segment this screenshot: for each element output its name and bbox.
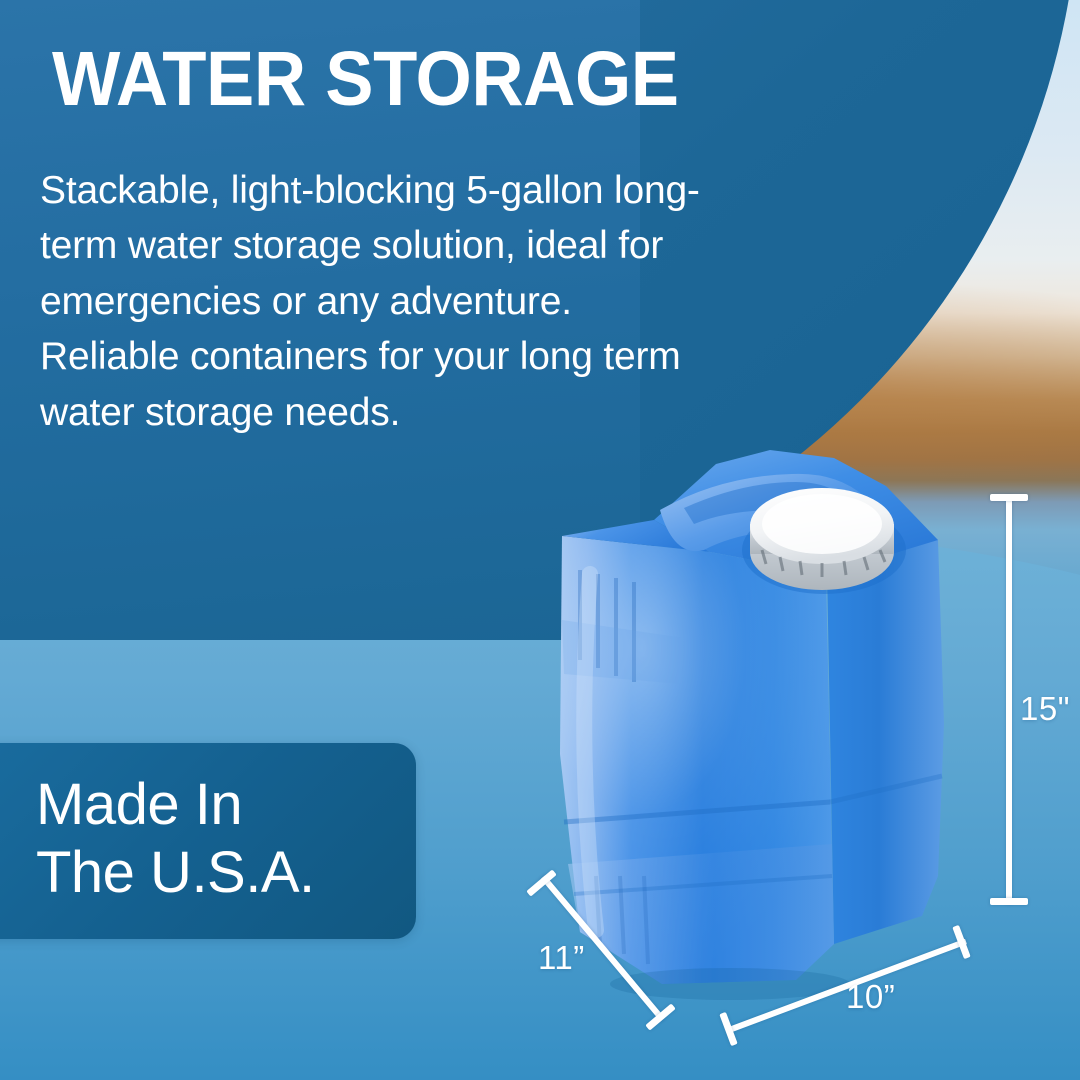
depth-dimension-label: 11”: [538, 939, 585, 977]
description-line: emergencies or any adventure.: [40, 274, 820, 329]
made-in-usa-label: Made In The U.S.A.: [36, 771, 315, 907]
product-description: Stackable, light-blocking 5-gallon long-…: [40, 163, 820, 440]
height-dimension-label: 15": [1020, 690, 1070, 728]
white-screw-cap: [750, 488, 894, 590]
description-line: Stackable, light-blocking 5-gallon long-: [40, 163, 820, 218]
product-image: [534, 424, 964, 1004]
page-title: WATER STORAGE: [52, 43, 679, 117]
height-dimension-line: [1006, 496, 1012, 904]
container-base-band: [568, 844, 834, 984]
made-in-usa-badge: Made In The U.S.A.: [0, 743, 416, 939]
description-line: term water storage solution, ideal for: [40, 218, 820, 273]
height-dimension-cap-top: [990, 494, 1028, 501]
description-line: Reliable containers for your long term: [40, 329, 820, 384]
water-container-illustration: [534, 424, 964, 1004]
width-dimension-label: 10”: [846, 978, 895, 1016]
height-dimension-cap-bottom: [990, 898, 1028, 905]
product-infographic: WATER STORAGE Stackable, light-blocking …: [0, 0, 1080, 1080]
